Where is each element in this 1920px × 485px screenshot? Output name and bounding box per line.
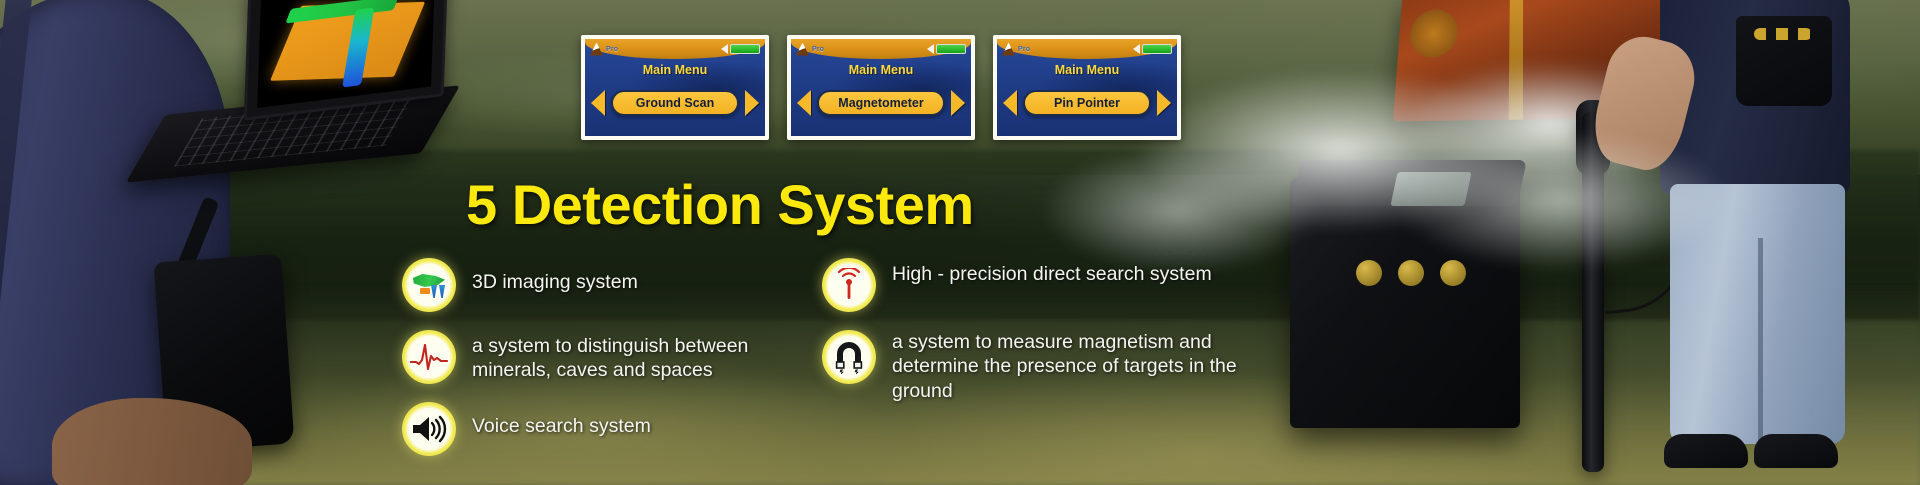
detector-knob-group	[1356, 260, 1476, 288]
mountain-logo-icon	[1002, 43, 1015, 56]
operator-left-forearm	[52, 398, 252, 485]
operator-right-shoe	[1754, 434, 1838, 468]
arrow-left-icon[interactable]	[591, 90, 605, 116]
ground-detector-case	[1290, 178, 1520, 428]
mountain-logo-icon	[796, 43, 809, 56]
arrow-right-icon[interactable]	[1157, 90, 1171, 116]
speaker-icon	[927, 44, 934, 54]
status-indicators	[721, 44, 760, 54]
battery-full-icon	[936, 44, 966, 54]
laptop-screen	[257, 0, 435, 108]
brand-logo: Pro	[590, 43, 618, 56]
device-screen-magnetometer[interactable]: Pro Main Menu Magnetometer	[787, 35, 975, 140]
arrow-left-icon[interactable]	[797, 90, 811, 116]
detector-knob	[1356, 260, 1382, 286]
mode-button[interactable]: Pin Pointer	[1023, 90, 1151, 116]
status-indicators	[1133, 44, 1172, 54]
device-screens-row: Pro Main Menu Ground Scan Pro	[581, 35, 1181, 140]
operator-right-legs	[1670, 184, 1845, 444]
battery-full-icon	[730, 44, 760, 54]
feature-label: Voice search system	[472, 402, 651, 438]
mode-selector: Ground Scan	[585, 90, 765, 116]
list-item: High - precision direct search system	[822, 258, 1282, 312]
list-item: Voice search system	[402, 402, 822, 456]
feature-list-left: 3D imaging system a system to distinguis…	[402, 258, 822, 474]
mode-button[interactable]: Magnetometer	[817, 90, 945, 116]
list-item: a system to distinguish between minerals…	[402, 330, 822, 384]
detector-knob	[1398, 260, 1424, 286]
brand-logo-label: Pro	[812, 46, 824, 53]
arrow-right-icon[interactable]	[951, 90, 965, 116]
panel-title: Main Menu	[997, 63, 1177, 77]
brand-logo-label: Pro	[1018, 46, 1030, 53]
operator-right-shoe	[1664, 434, 1748, 468]
panel-title: Main Menu	[585, 63, 765, 77]
pulse-waveform-icon	[402, 330, 456, 384]
mode-button[interactable]: Ground Scan	[611, 90, 739, 116]
detector-knob	[1440, 260, 1466, 286]
probe-rod	[1582, 112, 1604, 472]
mode-selector: Magnetometer	[791, 90, 971, 116]
panel-title: Main Menu	[791, 63, 971, 77]
laptop	[150, 0, 440, 175]
speaker-volume-icon	[402, 402, 456, 456]
speaker-icon	[721, 44, 728, 54]
detector-case-display	[1390, 172, 1471, 206]
operator-right	[1630, 0, 1880, 485]
detection-system-banner: Pro Main Menu Ground Scan Pro	[0, 0, 1920, 485]
3d-terrain-icon	[402, 258, 456, 312]
brand-logo-label: Pro	[606, 46, 618, 53]
speaker-icon	[1133, 44, 1140, 54]
battery-full-icon	[1142, 44, 1172, 54]
right-scene	[1260, 0, 1920, 485]
arrow-right-icon[interactable]	[745, 90, 759, 116]
feature-label: a system to measure magnetism and determ…	[892, 330, 1282, 403]
feature-label: High - precision direct search system	[892, 258, 1212, 286]
signal-target-icon	[822, 258, 876, 312]
page-title: 5 Detection System	[466, 172, 974, 237]
status-indicators	[927, 44, 966, 54]
horseshoe-magnet-icon	[822, 330, 876, 384]
brand-logo: Pro	[1002, 43, 1030, 56]
feature-list-right: High - precision direct search system a …	[822, 258, 1282, 417]
device-screen-ground-scan[interactable]: Pro Main Menu Ground Scan	[581, 35, 769, 140]
feature-label: 3D imaging system	[472, 258, 638, 294]
brand-logo: Pro	[796, 43, 824, 56]
mode-selector: Pin Pointer	[997, 90, 1177, 116]
list-item: a system to measure magnetism and determ…	[822, 330, 1282, 403]
device-screen-pin-pointer[interactable]: Pro Main Menu Pin Pointer	[993, 35, 1181, 140]
arrow-left-icon[interactable]	[1003, 90, 1017, 116]
mountain-logo-icon	[590, 43, 603, 56]
list-item: 3D imaging system	[402, 258, 822, 312]
feature-label: a system to distinguish between minerals…	[472, 330, 822, 383]
handheld-control-unit	[1736, 16, 1832, 106]
left-scene	[0, 0, 470, 485]
